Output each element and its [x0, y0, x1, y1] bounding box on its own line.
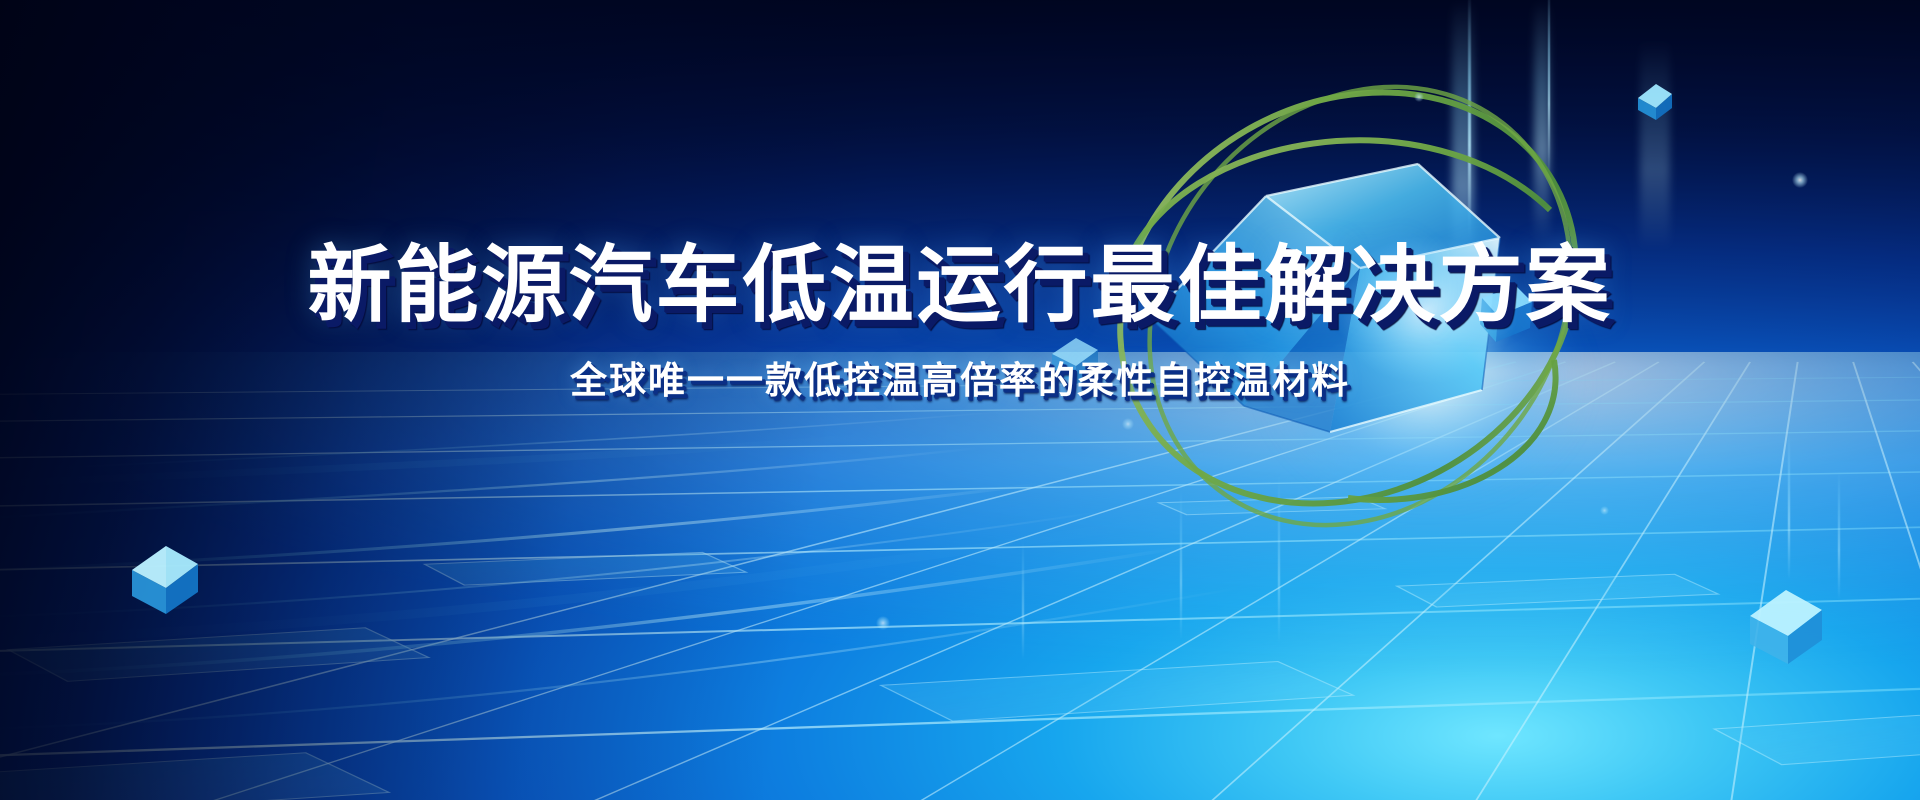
page-title: 新能源汽车低温运行最佳解决方案	[0, 240, 1920, 331]
banner-text-block: 新能源汽车低温运行最佳解决方案 全球唯一一款低控温高倍率的柔性自控温材料	[0, 240, 1920, 403]
hero-banner: 新能源汽车低温运行最佳解决方案 全球唯一一款低控温高倍率的柔性自控温材料	[0, 0, 1920, 800]
page-subtitle: 全球唯一一款低控温高倍率的柔性自控温材料	[0, 359, 1920, 403]
